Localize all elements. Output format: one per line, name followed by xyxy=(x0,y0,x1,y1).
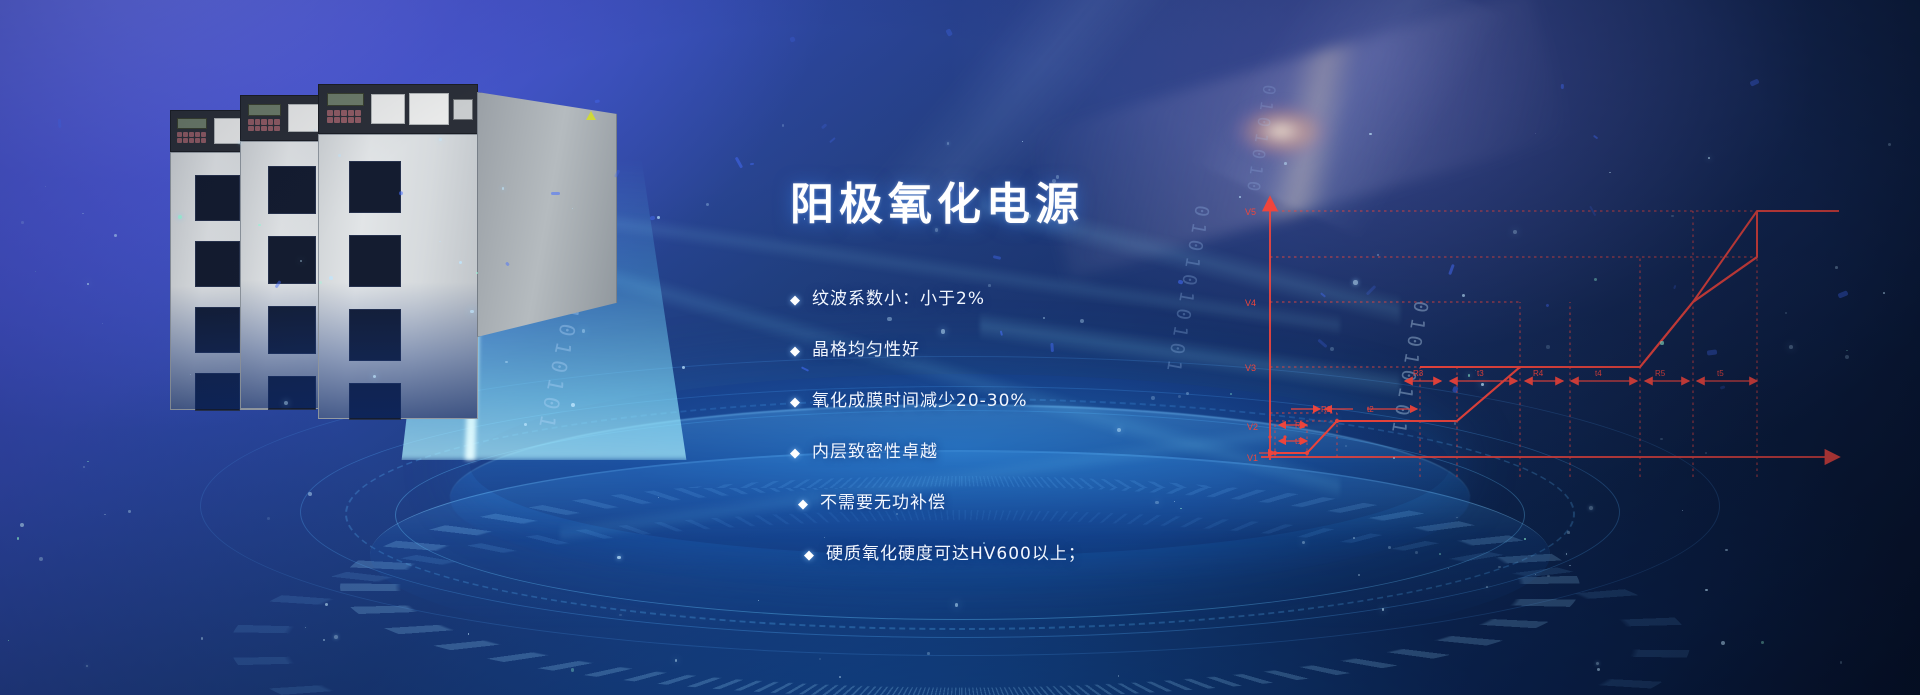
cabinet-1-vent xyxy=(195,373,240,411)
particle-dot xyxy=(1284,162,1287,165)
cabinet-2-keypad xyxy=(248,119,280,131)
particle-dot xyxy=(86,665,88,667)
cabinet-1-keypad xyxy=(177,132,206,143)
chart-level-guides xyxy=(1270,211,1757,421)
cabinet-1-display xyxy=(177,118,207,129)
list-item-label: 硬质氧化硬度可达HV600以上； xyxy=(826,539,1086,564)
particle-dot xyxy=(8,640,9,641)
particle-dot xyxy=(1498,566,1501,569)
particle-dot xyxy=(675,659,677,661)
diamond-bullet-icon: ◆ xyxy=(804,549,815,562)
particle-dot xyxy=(21,221,24,224)
chart-span-r2: R2 xyxy=(1321,405,1332,414)
chart-voltage-profile-v4 xyxy=(1520,302,1693,367)
particle-dot xyxy=(1524,538,1526,540)
particle-dot xyxy=(1725,549,1728,552)
particle-dot xyxy=(1888,143,1891,146)
cabinet-2-vent xyxy=(268,166,316,214)
particle-shard xyxy=(1749,78,1759,86)
particle-dot xyxy=(1353,537,1355,539)
particle-dot xyxy=(658,497,659,498)
particle-dot xyxy=(927,652,930,655)
particle-dot xyxy=(1596,662,1599,665)
cabinet-3-vent xyxy=(349,383,401,420)
particle-shard xyxy=(789,36,795,42)
particle-shard xyxy=(829,136,836,143)
list-item: ◆ 晶格均匀性好 xyxy=(790,335,1310,360)
particle-dot xyxy=(1569,565,1571,567)
particle-dot xyxy=(17,537,20,540)
chart-span-t4: t4 xyxy=(1595,369,1602,378)
particle-dot xyxy=(1682,510,1683,511)
particle-dot xyxy=(1535,133,1536,134)
particle-dot xyxy=(782,124,785,127)
particle-dot xyxy=(1566,553,1567,554)
particle-dot xyxy=(819,658,821,660)
particle-dot xyxy=(1609,172,1610,173)
particle-dot xyxy=(82,213,84,215)
particle-dot xyxy=(1118,675,1120,677)
product-cabinets: ▪▪ ▪▪ xyxy=(170,80,640,410)
cabinet-3-body xyxy=(318,134,478,419)
particle-shard xyxy=(1592,135,1597,140)
particle-dot xyxy=(1567,531,1570,534)
chart-span-t3: t3 xyxy=(1477,369,1484,378)
particle-dot xyxy=(1840,661,1842,663)
voltage-ramp-chart: V1 V2 V3 V4 V5 R1 t1 R2 t2 xyxy=(1245,185,1865,495)
particle-shard xyxy=(750,163,754,165)
particle-dot xyxy=(1597,668,1601,672)
cabinet-3-vent xyxy=(349,161,401,213)
particle-dot xyxy=(308,492,312,496)
particle-dot xyxy=(617,556,620,559)
cabinet-2-label-plate-a xyxy=(288,104,320,132)
particle-dot xyxy=(1448,568,1449,569)
list-item-label: 内层致密性卓越 xyxy=(812,437,938,462)
particle-dot xyxy=(1456,517,1458,519)
cabinet-2-vent xyxy=(268,236,316,284)
particle-dot xyxy=(1535,574,1536,575)
particle-shard xyxy=(946,28,953,36)
particle-dot xyxy=(1369,133,1372,136)
particle-dot xyxy=(35,271,36,272)
cabinet-3-display xyxy=(327,93,364,106)
page-title: 阳极氧化电源 xyxy=(790,168,1310,232)
particle-dot xyxy=(1388,546,1391,549)
particle-dot xyxy=(947,142,950,145)
particle-dot xyxy=(323,639,325,641)
particle-dot xyxy=(657,216,660,219)
list-item: ◆ 不需要无功补偿 xyxy=(798,488,1310,513)
particle-dot xyxy=(1721,641,1725,645)
particle-dot xyxy=(1547,575,1549,577)
chart-span-t2: t2 xyxy=(1367,405,1374,414)
particle-dot xyxy=(267,517,270,520)
particle-dot xyxy=(1761,641,1764,644)
list-item: ◆ 硬质氧化硬度可达HV600以上； xyxy=(804,539,1310,564)
list-item-label: 晶格均匀性好 xyxy=(812,335,920,360)
cabinet-3-keypad[interactable] xyxy=(327,110,361,123)
particle-dot xyxy=(104,514,105,515)
cabinet-3-control-head xyxy=(318,84,478,134)
banner-text-block: 阳极氧化电源 ◆ 纹波系数小：小于2% ◆ 晶格均匀性好 ◆ 氧化成膜时间减少2… xyxy=(790,168,1310,590)
cabinet-1-vent xyxy=(195,175,240,221)
chart-span-r5: R5 xyxy=(1655,369,1666,378)
cabinet-3-label-plate-a xyxy=(371,94,405,124)
list-item: ◆ 内层致密性卓越 xyxy=(790,437,1310,462)
particle-dot xyxy=(524,423,527,426)
particle-dot xyxy=(334,635,338,639)
diamond-bullet-icon: ◆ xyxy=(790,447,801,460)
particle-dot xyxy=(83,466,86,469)
particle-dot xyxy=(571,668,575,672)
particle-dot xyxy=(128,510,130,512)
cabinet-3-vent xyxy=(349,309,401,361)
cabinet-1-vent xyxy=(195,307,240,353)
particle-dot xyxy=(1022,141,1023,142)
particle-dot xyxy=(1708,157,1710,159)
chart-span-r4: R4 xyxy=(1533,369,1544,378)
cabinet-3-switch[interactable] xyxy=(453,99,473,120)
lens-flare-core xyxy=(1232,102,1330,160)
particle-dot xyxy=(682,366,686,370)
particle-dot xyxy=(706,203,709,206)
particle-dot xyxy=(102,323,103,324)
feature-list: ◆ 纹波系数小：小于2% ◆ 晶格均匀性好 ◆ 氧化成膜时间减少20-30% ◆… xyxy=(790,284,1310,564)
cabinet-3-side-panel: ▪▪ ▪▪ xyxy=(477,92,617,337)
particle-dot xyxy=(1439,553,1441,555)
particle-dot xyxy=(1883,292,1885,294)
diamond-bullet-icon: ◆ xyxy=(790,396,801,409)
chart-voltage-profile xyxy=(1270,211,1757,453)
particle-dot xyxy=(1382,608,1384,610)
cabinet-3-vent xyxy=(349,235,401,287)
particle-shard xyxy=(1560,84,1563,89)
particle-dot xyxy=(201,637,203,639)
list-item-label: 氧化成膜时间减少20-30% xyxy=(812,386,1028,411)
cabinet-2-display xyxy=(248,104,281,116)
particle-dot xyxy=(1705,589,1707,591)
cabinet-2-vent xyxy=(268,306,316,354)
cabinet-2-vent xyxy=(268,376,316,410)
particle-dot xyxy=(1358,574,1360,576)
cabinet-3-label-plate-b xyxy=(409,93,449,125)
particle-dot xyxy=(87,461,88,462)
list-item-label: 纹波系数小：小于2% xyxy=(812,284,985,309)
particle-dot xyxy=(20,523,24,527)
particle-dot xyxy=(114,234,117,237)
chart-span-t5: t5 xyxy=(1717,369,1724,378)
particle-dot xyxy=(955,603,959,607)
cabinet-3-side-text: ▪▪ ▪▪ xyxy=(574,102,583,107)
particle-dot xyxy=(468,633,469,634)
particle-shard xyxy=(58,119,62,128)
particle-dot xyxy=(39,557,43,561)
list-item: ◆ 氧化成膜时间减少20-30% xyxy=(790,386,1310,411)
particle-dot xyxy=(619,614,621,616)
particle-dot xyxy=(305,627,306,628)
cabinet-1-vent xyxy=(195,241,240,287)
particle-dot xyxy=(1486,586,1488,588)
list-item-label: 不需要无功补偿 xyxy=(820,488,946,513)
particle-dot xyxy=(1589,506,1593,510)
particle-dot xyxy=(325,603,328,606)
warning-triangle-icon xyxy=(586,111,596,120)
chart-span-r3: R3 xyxy=(1413,369,1424,378)
chart-voltage-profile-upper xyxy=(1270,257,1757,453)
chart-drop-lines xyxy=(1275,211,1757,477)
particle-shard xyxy=(821,123,827,128)
chart-svg: V1 V2 V3 V4 V5 R1 t1 R2 t2 xyxy=(1245,185,1865,495)
particle-dot xyxy=(45,186,46,187)
list-item: ◆ 纹波系数小：小于2% xyxy=(790,284,1310,309)
particle-shard xyxy=(650,215,656,219)
particle-dot xyxy=(87,283,89,285)
particle-dot xyxy=(1415,551,1418,554)
particle-dot xyxy=(758,600,759,601)
diamond-bullet-icon: ◆ xyxy=(790,294,801,307)
particle-shard xyxy=(735,156,743,168)
diamond-bullet-icon: ◆ xyxy=(790,345,801,358)
particle-dot xyxy=(839,676,841,678)
diamond-bullet-icon: ◆ xyxy=(798,498,809,511)
banner-stage: 010101010101 0101010101 01010101 0101010 xyxy=(0,0,1920,695)
